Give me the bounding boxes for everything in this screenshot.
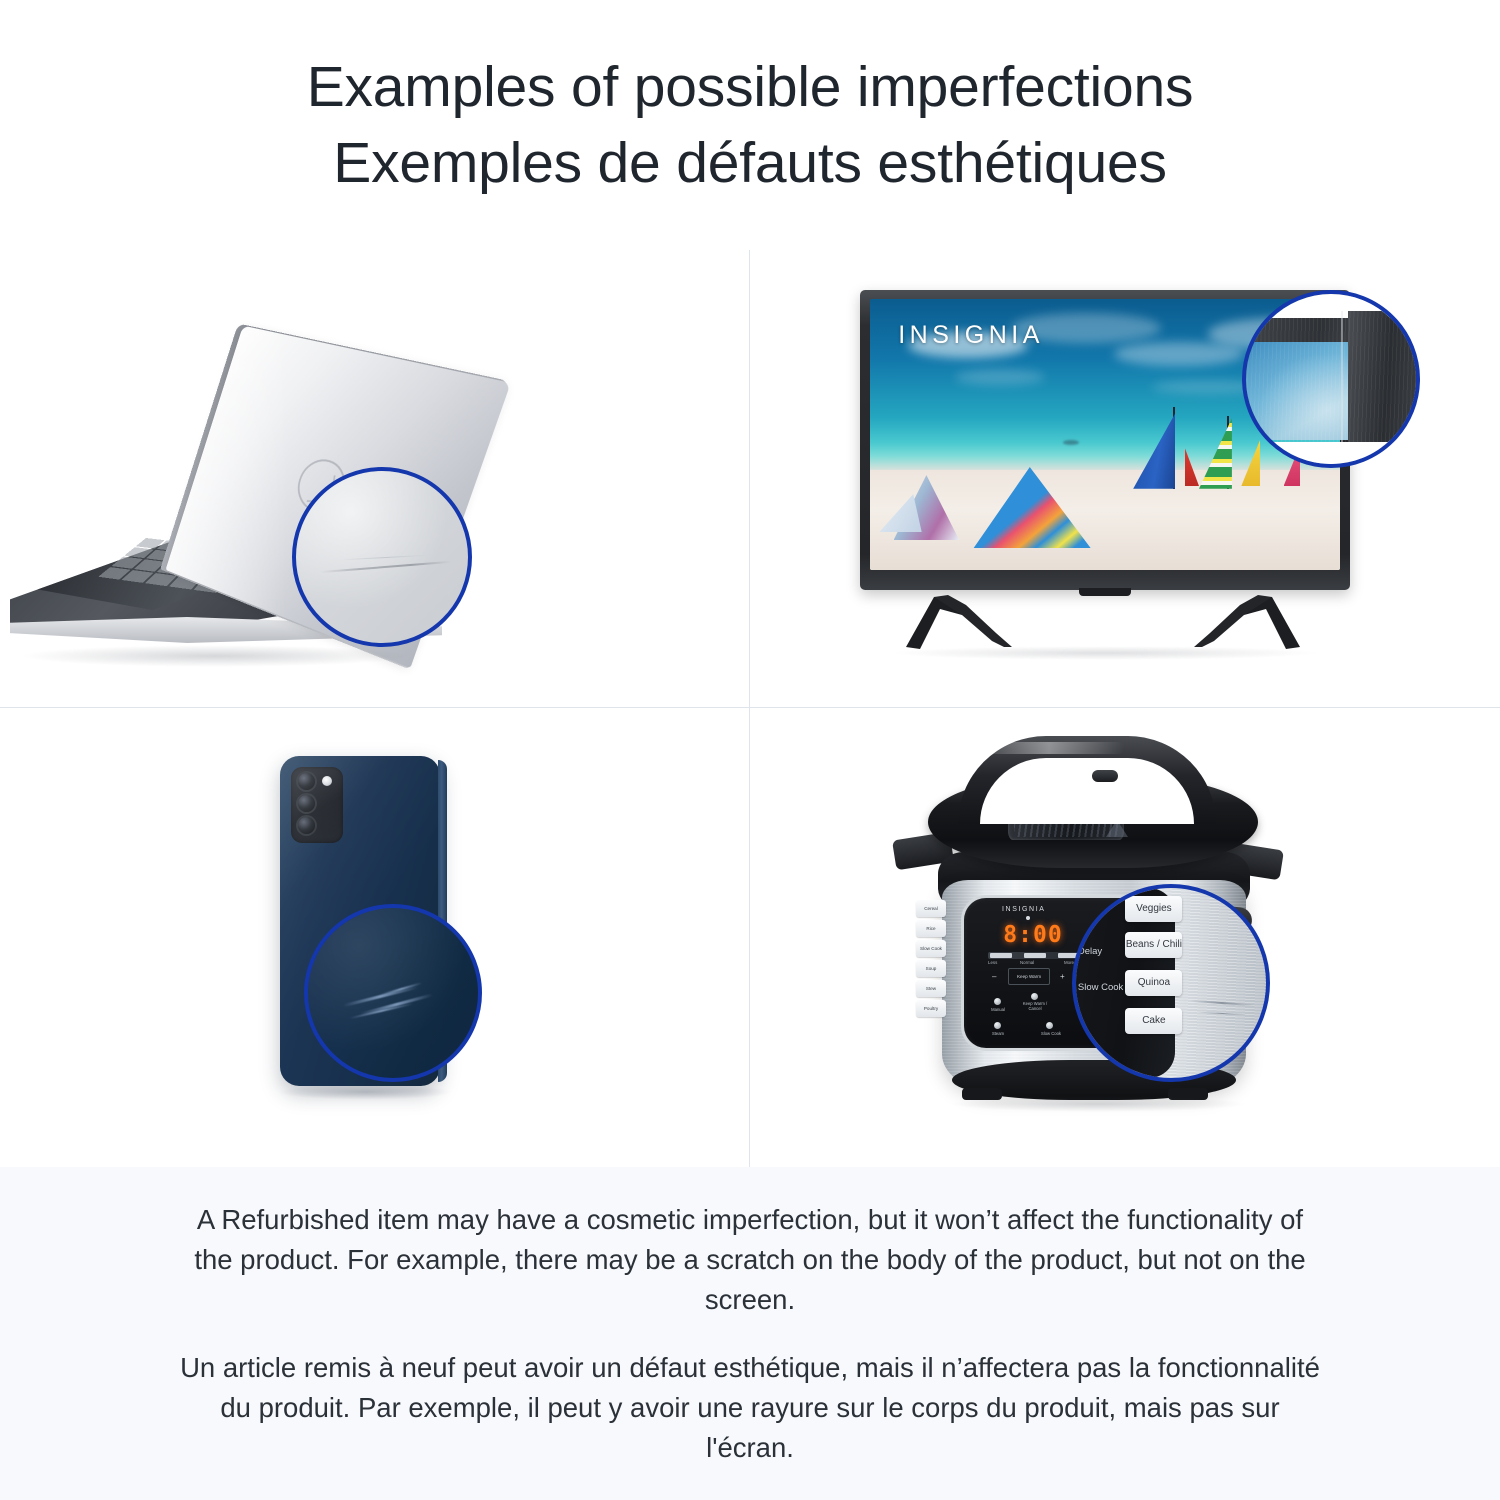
cooker-key-label-keep-warm: Keep Warm / Cancel <box>1016 1002 1054 1011</box>
cooker-pressure-bar <box>988 952 1084 959</box>
cooker-key-icon-keep-warm[interactable] <box>1031 993 1038 1000</box>
disclaimer-paragraph-en: A Refurbished item may have a cosmetic i… <box>180 1200 1320 1320</box>
smartphone-illustration <box>250 756 510 1126</box>
cooker-callout-side-label-2: Slow Cook <box>1078 983 1123 993</box>
cooker-callout-button[interactable]: Veggies <box>1125 896 1182 922</box>
cooker-bar-label-more: More <box>1064 960 1074 965</box>
cooker-fn-label: Rice <box>926 926 935 931</box>
page-title-fr: Exemples de défauts esthétiques <box>333 125 1167 201</box>
cooker-handle-gloss <box>974 742 1124 754</box>
cooker-key-label-steam: Steam <box>982 1032 1014 1037</box>
cooker-callout-button[interactable]: Quinoa <box>1125 970 1182 996</box>
cooker-fn-button[interactable]: Soup <box>916 960 946 977</box>
tv-stand-foot-left <box>900 589 1018 651</box>
cooker-pressure-valve-icon <box>1092 770 1118 782</box>
cooker-callout-button-label: Veggies <box>1136 903 1172 914</box>
tv-screen-logo: INSIGNIA <box>898 321 1044 350</box>
tv-shadow <box>890 646 1320 660</box>
tv-ir-receiver-icon <box>1079 588 1131 596</box>
cooker-sub-display: Keep Warm <box>1008 968 1050 985</box>
examples-grid: INSIGNIA <box>0 250 1500 1167</box>
cooker-fn-label: Poultry <box>924 1006 938 1011</box>
cooker-plus-button[interactable]: + <box>1060 972 1065 981</box>
cooker-key-icon-steam[interactable] <box>994 1022 1001 1029</box>
cooker-fn-button[interactable]: Slow Cook <box>916 940 946 957</box>
header: Examples of possible imperfections Exemp… <box>0 0 1500 250</box>
disclaimer-paragraph-fr: Un article remis à neuf peut avoir un dé… <box>180 1348 1320 1468</box>
footer-disclaimer: A Refurbished item may have a cosmetic i… <box>0 1167 1500 1500</box>
cooker-callout-button-label: Beans / Chili <box>1126 939 1182 950</box>
cooker-fn-label: Slow Cook <box>920 946 942 951</box>
cooker-timer-display: 8:00 <box>994 922 1072 948</box>
television-illustration: INSIGNIA <box>860 290 1370 680</box>
imperfections-infographic: Examples of possible imperfections Exemp… <box>0 0 1500 1500</box>
cooker-shadow <box>948 1096 1248 1112</box>
cooker-key-label-slow-cook: Slow Cook <box>1032 1032 1070 1037</box>
cooker-fn-label: Soup <box>926 966 937 971</box>
cooker-key-icon-slow-cook[interactable] <box>1046 1022 1053 1029</box>
cooker-key-icon-manual[interactable] <box>994 998 1001 1005</box>
cooker-key-label-manual: Manual <box>982 1008 1014 1013</box>
cooker-fn-button[interactable]: Stew <box>916 980 946 997</box>
cooker-function-column-left: Cereal Rice Slow Cook Soup Stew Poultry <box>916 900 946 1017</box>
example-cell-pressure-cooker: Cereal Rice Slow Cook Soup Stew Poultry … <box>750 708 1500 1167</box>
cooker-bar-label-less: Less <box>988 960 997 965</box>
cooker-callout-button-label: Cake <box>1142 1015 1165 1026</box>
cooker-callout-button-label: Quinoa <box>1138 977 1170 988</box>
pressure-cooker-illustration: Cereal Rice Slow Cook Soup Stew Poultry … <box>900 730 1330 1130</box>
cooker-callout-button[interactable]: Cake <box>1125 1008 1182 1034</box>
phone-defect-callout <box>304 904 482 1082</box>
laptop-shadow <box>20 645 410 667</box>
cooker-defect-callout: Delay Slow Cook Veggies Beans / Chili Qu… <box>1072 884 1270 1082</box>
cooker-fn-button[interactable]: Cereal <box>916 900 946 917</box>
cooker-callout-side-label-1: Delay <box>1078 947 1102 957</box>
tv-stand-foot-right <box>1188 589 1306 651</box>
cooker-callout-button[interactable]: Beans / Chili <box>1125 932 1182 958</box>
cooker-brand-label: INSIGNIA <box>1002 906 1046 913</box>
phone-shadow <box>278 1084 453 1100</box>
cooker-fn-button[interactable]: Rice <box>916 920 946 937</box>
example-cell-laptop <box>0 250 750 708</box>
tv-callout-grain <box>1246 294 1416 464</box>
example-cell-television: INSIGNIA <box>750 250 1500 708</box>
page-title-en: Examples of possible imperfections <box>307 49 1194 125</box>
cooker-minus-button[interactable]: – <box>992 972 996 981</box>
tv-callout-bottom-mask <box>1246 442 1416 464</box>
example-cell-smartphone <box>0 708 750 1167</box>
cooker-status-led-icon <box>1026 916 1030 920</box>
tv-defect-callout <box>1242 290 1420 468</box>
cooker-fn-label: Cereal <box>924 906 938 911</box>
laptop-illustration <box>10 345 530 675</box>
laptop-defect-callout <box>292 467 472 647</box>
cooker-bar-label-normal: Normal <box>1020 960 1034 965</box>
cooker-fn-button[interactable]: Poultry <box>916 1000 946 1017</box>
cooker-fn-label: Stew <box>926 986 936 991</box>
